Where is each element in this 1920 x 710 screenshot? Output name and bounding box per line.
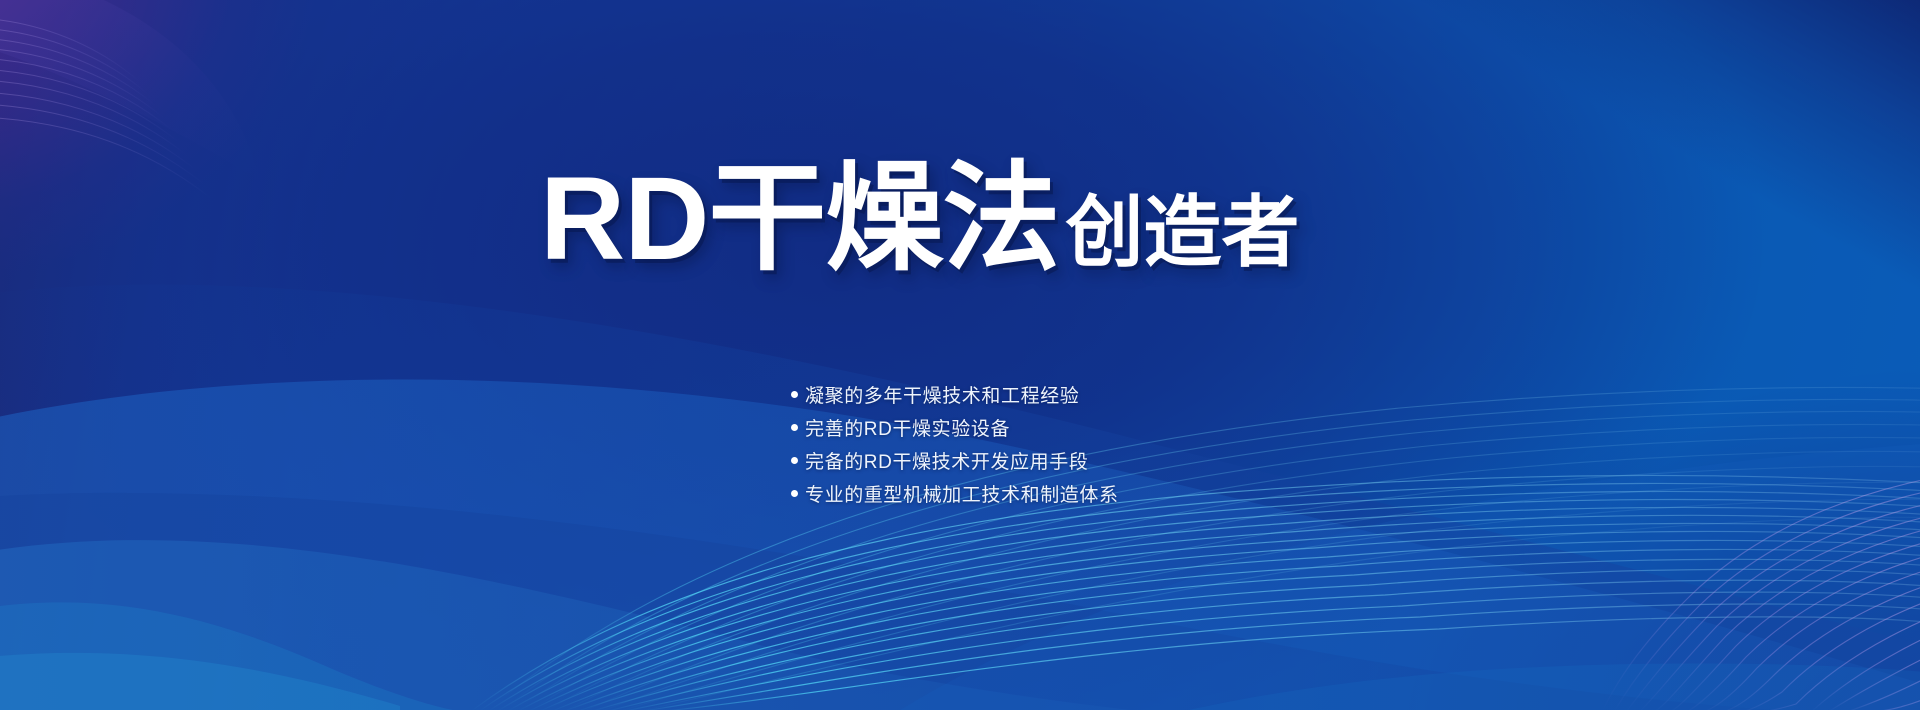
bullet-dot-icon [791, 424, 798, 431]
promo-banner: RD干燥法创造者 凝聚的多年干燥技术和工程经验 完善的RD干燥实验设备 完备的R… [0, 0, 1920, 710]
banner-headline: RD干燥法创造者 [540, 160, 1299, 278]
bullet-label: 完备的RD干燥技术开发应用手段 [805, 447, 1088, 474]
list-item: 完善的RD干燥实验设备 [791, 411, 1119, 444]
bullet-label: 专业的重型机械加工技术和制造体系 [805, 480, 1119, 507]
headline-main-text: RD干燥法 [540, 153, 1059, 285]
bullet-dot-icon [791, 490, 798, 497]
bullet-dot-icon [791, 391, 798, 398]
feature-bullet-list: 凝聚的多年干燥技术和工程经验 完善的RD干燥实验设备 完备的RD干燥技术开发应用… [791, 378, 1119, 510]
headline-sub-text: 创造者 [1065, 188, 1299, 276]
list-item: 专业的重型机械加工技术和制造体系 [791, 477, 1119, 510]
list-item: 完备的RD干燥技术开发应用手段 [791, 444, 1119, 477]
bullet-dot-icon [791, 457, 798, 464]
bullet-label: 凝聚的多年干燥技术和工程经验 [805, 381, 1079, 408]
list-item: 凝聚的多年干燥技术和工程经验 [791, 378, 1119, 411]
banner-content: RD干燥法创造者 凝聚的多年干燥技术和工程经验 完善的RD干燥实验设备 完备的R… [0, 0, 1920, 710]
bullet-label: 完善的RD干燥实验设备 [805, 414, 1010, 441]
